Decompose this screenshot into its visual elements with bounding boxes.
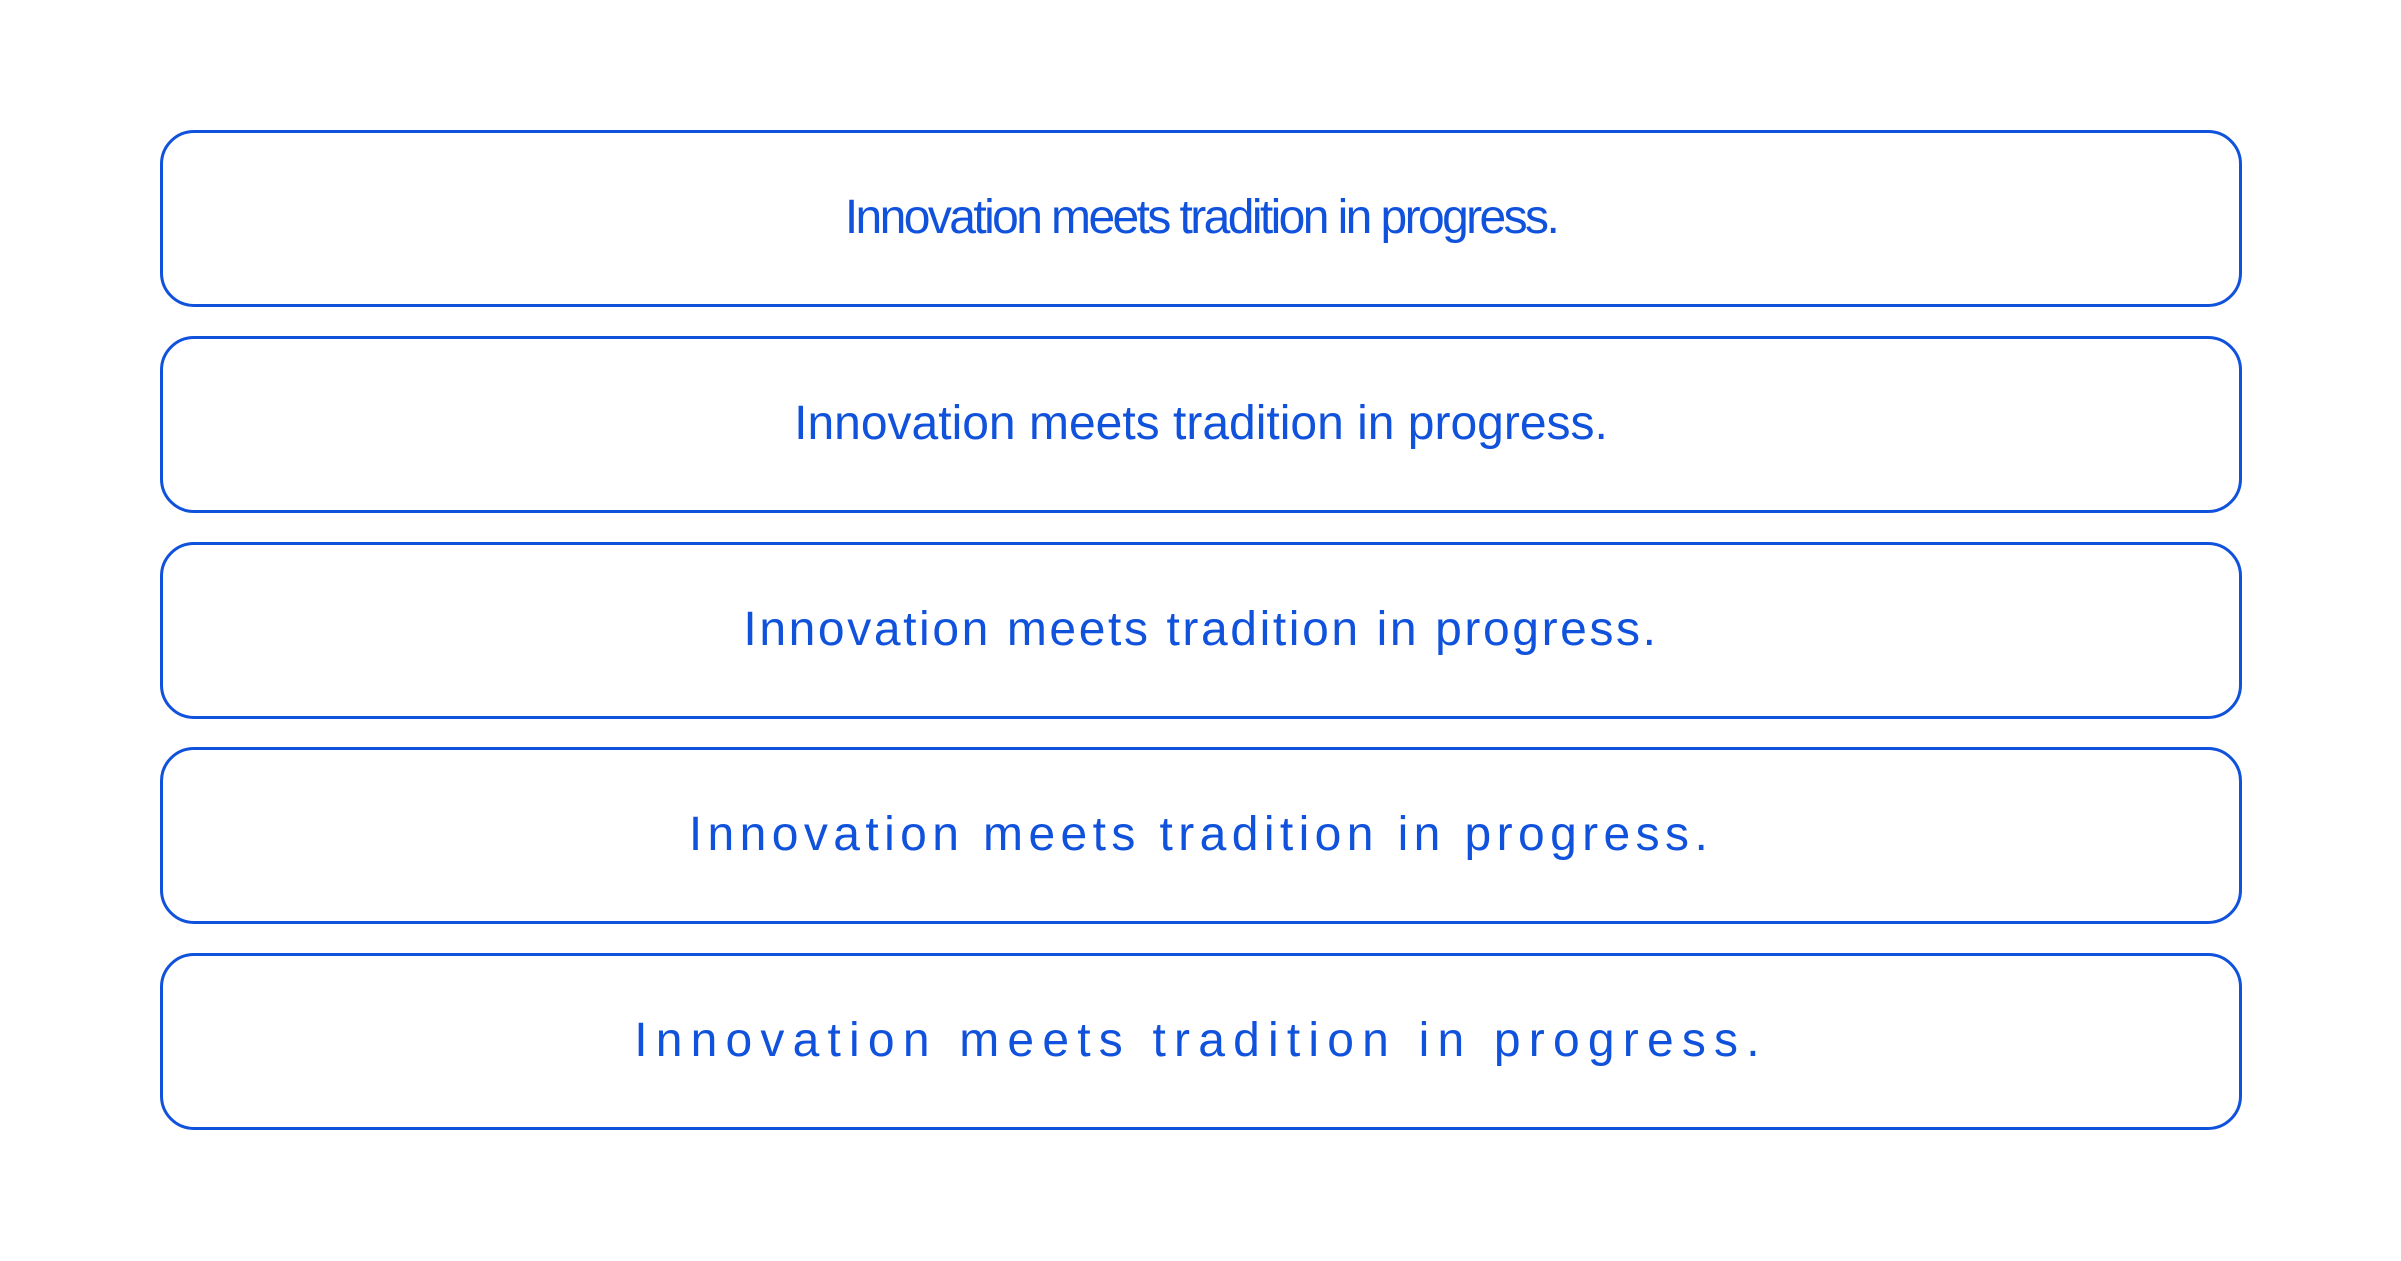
letter-spacing-card[interactable]: Innovation meets tradition in progress. xyxy=(160,130,2242,307)
letter-spacing-card-stack: Innovation meets tradition in progress. … xyxy=(160,130,2242,1130)
letter-spacing-card[interactable]: Innovation meets tradition in progress. xyxy=(160,336,2242,513)
letter-spacing-sample-text: Innovation meets tradition in progress. xyxy=(845,192,1557,245)
letter-spacing-card[interactable]: Innovation meets tradition in progress. xyxy=(160,953,2242,1130)
letter-spacing-sample-text: Innovation meets tradition in progress. xyxy=(689,809,1713,862)
letter-spacing-sample-text: Innovation meets tradition in progress. xyxy=(743,604,1658,657)
letter-spacing-sample-text: Innovation meets tradition in progress. xyxy=(634,1015,1768,1068)
letter-spacing-sample-text: Innovation meets tradition in progress. xyxy=(794,398,1608,451)
letter-spacing-card[interactable]: Innovation meets tradition in progress. xyxy=(160,747,2242,924)
letter-spacing-card[interactable]: Innovation meets tradition in progress. xyxy=(160,542,2242,719)
